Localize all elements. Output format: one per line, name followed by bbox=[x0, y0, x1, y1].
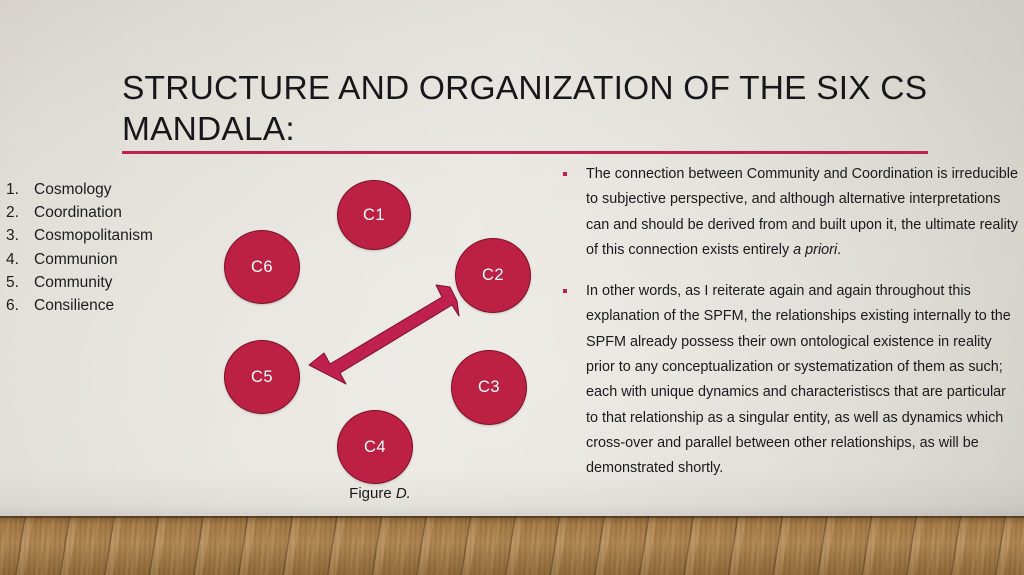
node-label: C5 bbox=[251, 368, 273, 387]
six-cs-list: 1. Cosmology 2. Coordination 3. Cosmopol… bbox=[6, 178, 221, 317]
wooden-floor bbox=[0, 516, 1024, 575]
list-item: 2. Coordination bbox=[6, 201, 221, 224]
node-c5[interactable]: C5 bbox=[224, 340, 300, 414]
list-item: 6. Consilience bbox=[6, 294, 221, 317]
bullet-dot-icon bbox=[563, 289, 567, 293]
node-c4[interactable]: C4 bbox=[337, 410, 413, 484]
node-label: C4 bbox=[364, 438, 386, 457]
bullet-item: The connection between Community and Coo… bbox=[558, 162, 1018, 263]
figure-caption-letter: D. bbox=[396, 485, 411, 502]
node-label: C2 bbox=[482, 266, 504, 285]
list-item-label: Consilience bbox=[34, 294, 221, 317]
list-item-number: 1. bbox=[6, 178, 34, 201]
page-title: Structure and Organization of the Six Cs… bbox=[122, 68, 932, 150]
list-item-label: Communion bbox=[34, 248, 221, 271]
list-item-number: 2. bbox=[6, 201, 34, 224]
list-item: 4. Communion bbox=[6, 248, 221, 271]
bullet-text-italic: a priori bbox=[793, 242, 837, 258]
node-label: C3 bbox=[478, 378, 500, 397]
bullet-dot-icon bbox=[563, 172, 567, 176]
body-bullets: The connection between Community and Coo… bbox=[558, 162, 1018, 498]
list-item-label: Cosmology bbox=[34, 178, 221, 201]
list-item-number: 4. bbox=[6, 248, 34, 271]
list-item: 1. Cosmology bbox=[6, 178, 221, 201]
list-item-number: 6. bbox=[6, 294, 34, 317]
node-c3[interactable]: C3 bbox=[451, 350, 527, 425]
slide: Structure and Organization of the Six Cs… bbox=[0, 0, 1024, 575]
node-c2[interactable]: C2 bbox=[455, 238, 531, 313]
node-c1[interactable]: C1 bbox=[337, 180, 411, 250]
list-item-label: Community bbox=[34, 271, 221, 294]
node-label: C6 bbox=[251, 258, 273, 277]
list-item-number: 5. bbox=[6, 271, 34, 294]
mandala-diagram: C1 C2 C3 C4 C5 C6 bbox=[205, 168, 555, 518]
bullet-text: In other words, as I reiterate again and… bbox=[586, 283, 1011, 476]
bullet-item: In other words, as I reiterate again and… bbox=[558, 279, 1018, 481]
bullet-text-tail: . bbox=[837, 242, 841, 258]
list-item: 5. Community bbox=[6, 271, 221, 294]
list-item-number: 3. bbox=[6, 224, 34, 247]
floor-shading bbox=[0, 516, 1024, 575]
node-c6[interactable]: C6 bbox=[224, 230, 300, 304]
list-item-label: Cosmopolitanism bbox=[34, 224, 221, 247]
list-item: 3. Cosmopolitanism bbox=[6, 224, 221, 247]
figure-caption-prefix: Figure bbox=[349, 485, 396, 502]
node-label: C1 bbox=[363, 206, 385, 225]
figure-caption: Figure D. bbox=[205, 485, 555, 502]
title-underline bbox=[122, 151, 928, 154]
list-item-label: Coordination bbox=[34, 201, 221, 224]
